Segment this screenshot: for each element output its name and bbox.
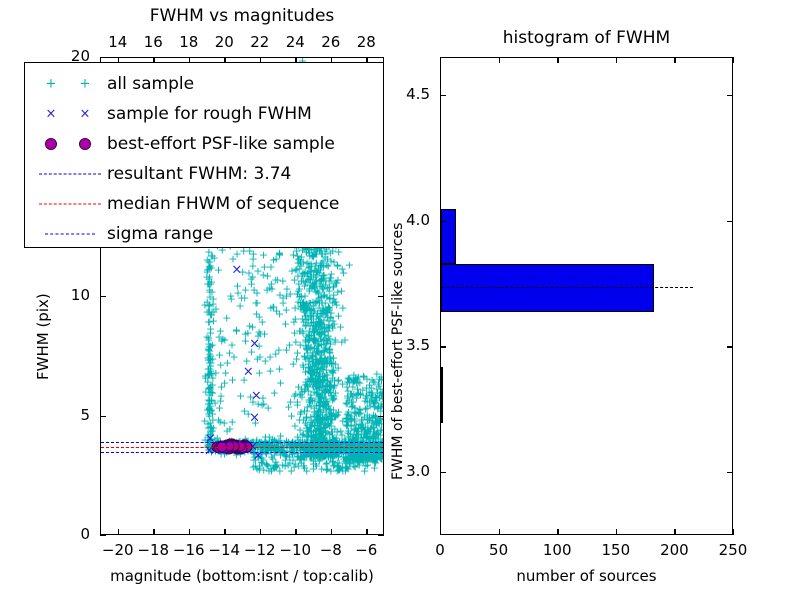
all-sample-point: + bbox=[222, 313, 231, 324]
all-sample-point: + bbox=[274, 438, 283, 449]
all-sample-point: + bbox=[204, 353, 213, 364]
all-sample-point: + bbox=[315, 371, 324, 382]
all-sample-point: + bbox=[257, 399, 266, 410]
axis-tick bbox=[733, 529, 734, 535]
all-sample-point: + bbox=[314, 452, 323, 463]
all-sample-point: + bbox=[228, 375, 237, 386]
all-sample-point: + bbox=[365, 449, 374, 460]
all-sample-point: + bbox=[325, 348, 334, 359]
all-sample-point: + bbox=[313, 415, 322, 426]
all-sample-point: + bbox=[377, 454, 383, 465]
all-sample-point: + bbox=[327, 308, 336, 319]
all-sample-point: + bbox=[303, 271, 312, 282]
all-sample-point: + bbox=[319, 357, 328, 368]
axis-tick bbox=[366, 529, 367, 535]
all-sample-point: + bbox=[361, 421, 370, 432]
all-sample-point: + bbox=[344, 373, 353, 384]
all-sample-point: + bbox=[295, 454, 304, 465]
all-sample-point: + bbox=[315, 383, 324, 394]
all-sample-point: + bbox=[205, 382, 214, 393]
all-sample-point: + bbox=[300, 301, 309, 312]
all-sample-point: + bbox=[375, 419, 383, 430]
all-sample-point: + bbox=[378, 448, 383, 459]
all-sample-point: + bbox=[206, 434, 215, 445]
all-sample-point: + bbox=[297, 392, 306, 403]
all-sample-point: + bbox=[240, 293, 249, 304]
all-sample-point: + bbox=[371, 395, 380, 406]
all-sample-point: + bbox=[344, 454, 353, 465]
all-sample-point: + bbox=[299, 451, 308, 462]
legend-entry: best-effort PSF-like sample bbox=[33, 129, 373, 159]
all-sample-point: + bbox=[346, 454, 355, 465]
all-sample-point: + bbox=[372, 418, 381, 429]
all-sample-point: + bbox=[310, 410, 319, 421]
all-sample-point: + bbox=[298, 268, 307, 279]
all-sample-point: + bbox=[313, 448, 322, 459]
all-sample-point: + bbox=[315, 439, 324, 450]
all-sample-point: + bbox=[251, 461, 260, 472]
all-sample-point: + bbox=[320, 385, 329, 396]
all-sample-point: + bbox=[246, 392, 255, 403]
all-sample-point: + bbox=[205, 349, 214, 360]
all-sample-point: + bbox=[316, 419, 325, 430]
all-sample-point: + bbox=[322, 458, 331, 469]
all-sample-point: + bbox=[330, 319, 339, 330]
all-sample-point: + bbox=[282, 344, 291, 355]
all-sample-point: + bbox=[205, 279, 214, 290]
all-sample-point: + bbox=[290, 420, 299, 431]
all-sample-point: + bbox=[322, 307, 331, 318]
all-sample-point: + bbox=[319, 305, 328, 316]
all-sample-point: + bbox=[205, 257, 214, 268]
all-sample-point: + bbox=[321, 307, 330, 318]
all-sample-point: + bbox=[216, 449, 225, 460]
all-sample-point: + bbox=[204, 369, 213, 380]
all-sample-point: + bbox=[216, 390, 225, 401]
all-sample-point: + bbox=[318, 297, 327, 308]
all-sample-point: + bbox=[318, 427, 327, 438]
all-sample-point: + bbox=[302, 344, 311, 355]
all-sample-point: + bbox=[322, 291, 331, 302]
all-sample-point: + bbox=[314, 292, 323, 303]
histogram-xlabel: number of sources bbox=[440, 567, 733, 585]
all-sample-point: + bbox=[339, 454, 348, 465]
all-sample-point: + bbox=[331, 358, 340, 369]
all-sample-point: + bbox=[269, 302, 278, 313]
all-sample-point: + bbox=[363, 459, 372, 470]
all-sample-point: + bbox=[373, 453, 382, 464]
all-sample-point: + bbox=[321, 354, 330, 365]
all-sample-point: + bbox=[323, 370, 332, 381]
all-sample-point: + bbox=[314, 428, 323, 439]
all-sample-point: + bbox=[207, 262, 216, 273]
all-sample-point: + bbox=[302, 431, 311, 442]
all-sample-point: + bbox=[305, 304, 314, 315]
all-sample-point: + bbox=[309, 250, 318, 261]
all-sample-point: + bbox=[302, 431, 311, 442]
all-sample-point: + bbox=[204, 364, 213, 375]
all-sample-point: + bbox=[323, 283, 332, 294]
all-sample-point: + bbox=[314, 399, 323, 410]
all-sample-point: + bbox=[293, 258, 302, 269]
all-sample-point: + bbox=[258, 392, 267, 403]
all-sample-point: + bbox=[205, 434, 214, 445]
all-sample-point: + bbox=[211, 303, 220, 314]
all-sample-point: + bbox=[218, 333, 227, 344]
all-sample-point: + bbox=[312, 320, 321, 331]
axis-tick bbox=[189, 529, 190, 535]
all-sample-point: + bbox=[364, 452, 373, 463]
all-sample-point: + bbox=[320, 290, 329, 301]
all-sample-point: + bbox=[271, 274, 280, 285]
all-sample-point: + bbox=[205, 368, 214, 379]
all-sample-point: + bbox=[307, 261, 316, 272]
psf-like-point bbox=[225, 439, 236, 450]
dashed-line bbox=[39, 174, 101, 175]
all-sample-point: + bbox=[297, 290, 306, 301]
all-sample-point: + bbox=[236, 439, 245, 450]
all-sample-point: + bbox=[245, 444, 254, 455]
all-sample-point: + bbox=[321, 425, 330, 436]
all-sample-point: + bbox=[315, 382, 324, 393]
all-sample-point: + bbox=[319, 399, 328, 410]
all-sample-point: + bbox=[310, 282, 319, 293]
all-sample-point: + bbox=[309, 333, 318, 344]
all-sample-point: + bbox=[375, 448, 383, 459]
all-sample-point: + bbox=[214, 332, 223, 343]
all-sample-point: + bbox=[316, 447, 325, 458]
all-sample-point: + bbox=[374, 418, 383, 429]
all-sample-point: + bbox=[330, 277, 339, 288]
all-sample-point: + bbox=[343, 428, 352, 439]
all-sample-point: + bbox=[366, 453, 375, 464]
all-sample-point: + bbox=[330, 412, 339, 423]
all-sample-point: + bbox=[220, 334, 229, 345]
all-sample-point: + bbox=[239, 374, 248, 385]
all-sample-point: + bbox=[370, 402, 379, 413]
all-sample-point: + bbox=[325, 293, 334, 304]
all-sample-point: + bbox=[357, 428, 366, 439]
all-sample-point: + bbox=[312, 449, 321, 460]
all-sample-point: + bbox=[301, 336, 310, 347]
all-sample-point: + bbox=[255, 341, 264, 352]
all-sample-point: + bbox=[290, 447, 299, 458]
all-sample-point: + bbox=[305, 452, 314, 463]
all-sample-point: + bbox=[376, 372, 383, 383]
all-sample-point: + bbox=[325, 351, 334, 362]
all-sample-point: + bbox=[360, 466, 369, 477]
all-sample-point: + bbox=[291, 439, 300, 450]
all-sample-point: + bbox=[233, 287, 242, 298]
histogram-xtick-4: 200 bbox=[660, 541, 689, 559]
all-sample-point: + bbox=[312, 435, 321, 446]
all-sample-point: + bbox=[365, 439, 374, 450]
all-sample-point: + bbox=[349, 430, 358, 441]
all-sample-point: + bbox=[376, 413, 383, 424]
all-sample-point: + bbox=[307, 354, 316, 365]
all-sample-point: + bbox=[361, 428, 370, 439]
all-sample-point: + bbox=[266, 463, 275, 474]
all-sample-point: + bbox=[326, 313, 335, 324]
all-sample-point: + bbox=[367, 375, 376, 386]
all-sample-point: + bbox=[377, 419, 383, 430]
all-sample-point: + bbox=[320, 326, 329, 337]
all-sample-point: + bbox=[316, 396, 325, 407]
all-sample-point: + bbox=[326, 414, 335, 425]
all-sample-point: + bbox=[373, 387, 382, 398]
all-sample-point: + bbox=[206, 366, 215, 377]
all-sample-point: + bbox=[298, 301, 307, 312]
scatter-toptick-7: 28 bbox=[357, 33, 376, 51]
all-sample-point: + bbox=[307, 451, 316, 462]
all-sample-point: + bbox=[295, 435, 304, 446]
all-sample-point: + bbox=[206, 358, 215, 369]
all-sample-point: + bbox=[296, 452, 305, 463]
all-sample-point: + bbox=[315, 424, 324, 435]
all-sample-point: + bbox=[370, 398, 379, 409]
all-sample-point: + bbox=[367, 389, 376, 400]
all-sample-point: + bbox=[328, 426, 337, 437]
all-sample-point: + bbox=[372, 452, 381, 463]
all-sample-point: + bbox=[262, 459, 271, 470]
all-sample-point: + bbox=[282, 283, 291, 294]
all-sample-point: + bbox=[309, 463, 318, 474]
all-sample-point: + bbox=[317, 329, 326, 340]
all-sample-point: + bbox=[333, 465, 342, 476]
all-sample-point: + bbox=[305, 448, 314, 459]
all-sample-point: + bbox=[305, 366, 314, 377]
all-sample-point: + bbox=[205, 395, 214, 406]
all-sample-point: + bbox=[355, 404, 364, 415]
all-sample-point: + bbox=[303, 345, 312, 356]
all-sample-point: + bbox=[312, 296, 321, 307]
all-sample-point: + bbox=[360, 429, 369, 440]
all-sample-point: + bbox=[257, 456, 266, 467]
all-sample-point: + bbox=[317, 428, 326, 439]
all-sample-point: + bbox=[324, 261, 333, 272]
all-sample-point: + bbox=[315, 417, 324, 428]
all-sample-point: + bbox=[325, 272, 334, 283]
all-sample-point: + bbox=[319, 451, 328, 462]
all-sample-point: + bbox=[275, 249, 284, 260]
all-sample-point: + bbox=[332, 300, 341, 311]
all-sample-point: + bbox=[332, 278, 341, 289]
all-sample-point: + bbox=[203, 279, 212, 290]
all-sample-point: + bbox=[329, 433, 338, 444]
all-sample-point: + bbox=[205, 422, 214, 433]
all-sample-point: + bbox=[309, 327, 318, 338]
all-sample-point: + bbox=[318, 375, 327, 386]
all-sample-point: + bbox=[308, 348, 317, 359]
all-sample-point: + bbox=[214, 414, 223, 425]
all-sample-point: + bbox=[304, 397, 313, 408]
all-sample-point: + bbox=[321, 279, 330, 290]
axis-tick bbox=[378, 57, 384, 58]
all-sample-point: + bbox=[316, 334, 325, 345]
all-sample-point: + bbox=[345, 457, 354, 468]
all-sample-point: + bbox=[311, 408, 320, 419]
all-sample-point: + bbox=[350, 452, 359, 463]
all-sample-point: + bbox=[298, 359, 307, 370]
all-sample-point: + bbox=[247, 278, 256, 289]
all-sample-point: + bbox=[208, 415, 217, 426]
all-sample-point: + bbox=[302, 420, 311, 431]
all-sample-point: + bbox=[203, 377, 212, 388]
all-sample-point: + bbox=[317, 322, 326, 333]
all-sample-point: + bbox=[328, 367, 337, 378]
scatter-hline-1 bbox=[101, 447, 383, 448]
all-sample-point: + bbox=[308, 444, 317, 455]
all-sample-point: + bbox=[350, 462, 359, 473]
all-sample-point: + bbox=[287, 266, 296, 277]
all-sample-point: + bbox=[300, 268, 309, 279]
all-sample-point: + bbox=[341, 466, 350, 477]
all-sample-point: + bbox=[371, 453, 380, 464]
all-sample-point: + bbox=[342, 452, 351, 463]
all-sample-point: + bbox=[306, 422, 315, 433]
all-sample-point: + bbox=[212, 438, 221, 449]
all-sample-point: + bbox=[301, 276, 310, 287]
all-sample-point: + bbox=[321, 427, 330, 438]
all-sample-point: + bbox=[317, 430, 326, 441]
rough-fwhm-point: × bbox=[205, 433, 216, 446]
all-sample-point: + bbox=[344, 417, 353, 428]
scatter-xtick-5: −10 bbox=[279, 541, 311, 559]
all-sample-point: + bbox=[297, 458, 306, 469]
legend-key bbox=[33, 224, 107, 244]
all-sample-point: + bbox=[353, 429, 362, 440]
all-sample-point: + bbox=[296, 389, 305, 400]
all-sample-point: + bbox=[362, 403, 371, 414]
axis-tick bbox=[557, 57, 558, 63]
all-sample-point: + bbox=[319, 391, 328, 402]
all-sample-point: + bbox=[208, 380, 217, 391]
all-sample-point: + bbox=[299, 438, 308, 449]
all-sample-point: + bbox=[367, 389, 376, 400]
all-sample-point: + bbox=[370, 456, 379, 467]
all-sample-point: + bbox=[348, 391, 357, 402]
all-sample-point: + bbox=[228, 253, 237, 264]
all-sample-point: + bbox=[252, 308, 261, 319]
all-sample-point: + bbox=[317, 429, 326, 440]
all-sample-point: + bbox=[320, 400, 329, 411]
all-sample-point: + bbox=[306, 362, 315, 373]
all-sample-point: + bbox=[361, 391, 370, 402]
all-sample-point: + bbox=[316, 317, 325, 328]
all-sample-point: + bbox=[309, 459, 318, 470]
all-sample-point: + bbox=[302, 378, 311, 389]
legend-entry: sigma range bbox=[33, 219, 373, 249]
all-sample-point: + bbox=[315, 456, 324, 467]
all-sample-point: + bbox=[278, 298, 287, 309]
all-sample-point: + bbox=[360, 425, 369, 436]
all-sample-point: + bbox=[202, 306, 211, 317]
all-sample-point: + bbox=[246, 443, 255, 454]
rough-fwhm-point: × bbox=[243, 366, 254, 379]
all-sample-point: + bbox=[328, 414, 337, 425]
all-sample-point: + bbox=[316, 363, 325, 374]
all-sample-point: + bbox=[306, 395, 315, 406]
axis-tick bbox=[616, 529, 617, 535]
all-sample-point: + bbox=[310, 386, 319, 397]
all-sample-point: + bbox=[312, 336, 321, 347]
all-sample-point: + bbox=[311, 249, 320, 260]
all-sample-point: + bbox=[316, 292, 325, 303]
all-sample-point: + bbox=[207, 444, 216, 455]
all-sample-point: + bbox=[323, 376, 332, 387]
all-sample-point: + bbox=[369, 423, 378, 434]
all-sample-point: + bbox=[327, 410, 336, 421]
all-sample-point: + bbox=[318, 447, 327, 458]
all-sample-point: + bbox=[328, 372, 337, 383]
all-sample-point: + bbox=[302, 438, 311, 449]
all-sample-point: + bbox=[353, 374, 362, 385]
all-sample-point: + bbox=[315, 328, 324, 339]
all-sample-point: + bbox=[323, 384, 332, 395]
all-sample-point: + bbox=[323, 448, 332, 459]
all-sample-point: + bbox=[373, 449, 382, 460]
all-sample-point: + bbox=[295, 325, 304, 336]
all-sample-point: + bbox=[316, 428, 325, 439]
all-sample-point: + bbox=[325, 358, 334, 369]
all-sample-point: + bbox=[205, 439, 214, 450]
all-sample-point: + bbox=[311, 249, 320, 260]
all-sample-point: + bbox=[280, 460, 289, 471]
all-sample-point: + bbox=[299, 316, 308, 327]
all-sample-point: + bbox=[262, 449, 271, 460]
all-sample-point: + bbox=[327, 358, 336, 369]
all-sample-point: + bbox=[358, 438, 367, 449]
all-sample-point: + bbox=[307, 392, 316, 403]
all-sample-point: + bbox=[349, 454, 358, 465]
all-sample-point: + bbox=[273, 459, 282, 470]
all-sample-point: + bbox=[294, 439, 303, 450]
all-sample-point: + bbox=[204, 256, 213, 267]
all-sample-point: + bbox=[317, 340, 326, 351]
all-sample-point: + bbox=[299, 297, 308, 308]
all-sample-point: + bbox=[324, 419, 333, 430]
all-sample-point: + bbox=[288, 448, 297, 459]
all-sample-point: + bbox=[357, 453, 366, 464]
all-sample-point: + bbox=[203, 254, 212, 265]
all-sample-point: + bbox=[204, 364, 213, 375]
all-sample-point: + bbox=[350, 453, 359, 464]
scatter-xlabel: magnitude (bottom:isnt / top:calib) bbox=[100, 567, 384, 585]
all-sample-point: + bbox=[294, 253, 303, 264]
all-sample-point: + bbox=[317, 275, 326, 286]
all-sample-point: + bbox=[249, 455, 258, 466]
all-sample-point: + bbox=[275, 308, 284, 319]
histogram-bar bbox=[441, 209, 456, 264]
all-sample-point: + bbox=[366, 423, 375, 434]
all-sample-point: + bbox=[361, 426, 370, 437]
all-sample-point: + bbox=[317, 448, 326, 459]
all-sample-point: + bbox=[330, 423, 339, 434]
all-sample-point: + bbox=[352, 408, 361, 419]
all-sample-point: + bbox=[208, 425, 217, 436]
all-sample-point: + bbox=[326, 418, 335, 429]
all-sample-point: + bbox=[316, 377, 325, 388]
all-sample-point: + bbox=[367, 388, 376, 399]
all-sample-point: + bbox=[244, 409, 253, 420]
all-sample-point: + bbox=[252, 287, 261, 298]
all-sample-point: + bbox=[355, 457, 364, 468]
all-sample-point: + bbox=[334, 376, 343, 387]
all-sample-point: + bbox=[241, 285, 250, 296]
all-sample-point: + bbox=[315, 366, 324, 377]
all-sample-point: + bbox=[348, 452, 357, 463]
all-sample-point: + bbox=[200, 434, 209, 445]
